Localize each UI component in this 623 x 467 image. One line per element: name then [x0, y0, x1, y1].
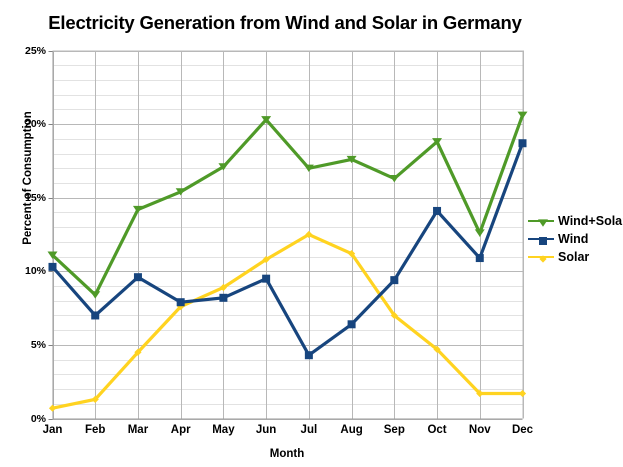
series-wind [49, 139, 527, 359]
data-point-marker [475, 229, 485, 236]
series-line [53, 115, 523, 295]
chart-legend: Wind+SolarWindSolar [528, 212, 623, 266]
series-solar [49, 231, 526, 412]
chart-container: Electricity Generation from Wind and Sol… [0, 0, 623, 467]
legend-item-solar[interactable]: Solar [528, 248, 623, 265]
data-point-marker [348, 320, 356, 328]
data-point-marker [134, 273, 142, 281]
legend-item-wind[interactable]: Wind [528, 230, 623, 247]
data-point-marker [177, 298, 185, 306]
data-point-marker [519, 139, 527, 147]
legend-label: Solar [558, 250, 589, 264]
data-point-marker [219, 294, 227, 302]
legend-label: Wind [558, 232, 588, 246]
data-point-marker [90, 291, 100, 298]
data-point-marker [49, 263, 57, 271]
data-point-marker [390, 276, 398, 284]
data-point-marker [433, 207, 441, 215]
data-point-marker [519, 390, 526, 397]
legend-swatch-icon [528, 233, 554, 245]
data-point-marker [538, 219, 548, 226]
legend-marker-square-icon [537, 235, 549, 247]
data-point-marker [49, 405, 56, 412]
data-series-layer [48, 112, 528, 412]
data-point-marker [305, 351, 313, 359]
series-line [53, 235, 523, 409]
legend-swatch-icon [528, 251, 554, 263]
legend-swatch-icon [528, 215, 554, 227]
legend-item-wind-plus-solar[interactable]: Wind+Solar [528, 212, 623, 229]
data-point-marker [476, 254, 484, 262]
legend-marker-triangle-down-icon [537, 217, 549, 229]
legend-marker-diamond-icon [537, 253, 549, 265]
data-point-marker [539, 237, 547, 245]
legend-label: Wind+Solar [558, 214, 623, 228]
data-point-marker [262, 275, 270, 283]
data-point-marker [539, 255, 546, 262]
data-point-marker [91, 311, 99, 319]
data-point-marker [518, 112, 528, 119]
